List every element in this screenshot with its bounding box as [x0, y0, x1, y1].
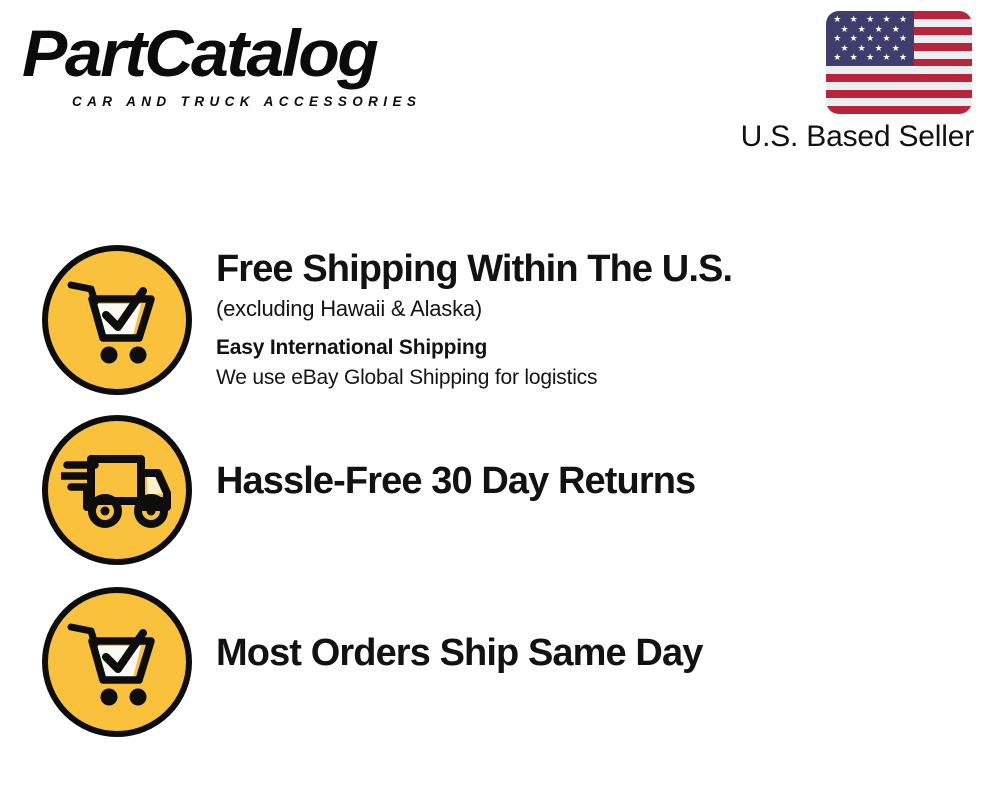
us-flag-icon: ★ ★ ★ ★ ★ ★ ★ ★ ★ ★ ★ ★: [826, 11, 972, 114]
flag-stripe: [826, 98, 972, 106]
flag-stripe: [826, 74, 972, 82]
brand-logo: PartCatalog CAR AND TRUCK ACCESSORIES: [22, 18, 492, 118]
star-icon: ★: [858, 44, 866, 53]
star-icon: ★: [858, 25, 866, 34]
star-icon: ★: [875, 25, 883, 34]
brand-wordmark: PartCatalog: [22, 18, 376, 88]
feature-text: Hassle-Free 30 Day Returns: [216, 415, 1000, 503]
flag-stripe: [826, 90, 972, 98]
feature-sub: (excluding Hawaii & Alaska): [216, 294, 1000, 324]
us-based-seller-badge: ★ ★ ★ ★ ★ ★ ★ ★ ★ ★ ★ ★: [714, 8, 986, 158]
star-icon: ★: [866, 53, 874, 62]
feature-text: Free Shipping Within The U.S. (excluding…: [216, 245, 1000, 392]
flag-star-row: ★ ★ ★ ★ ★: [829, 53, 911, 62]
star-icon: ★: [850, 53, 858, 62]
banner-header: PartCatalog CAR AND TRUCK ACCESSORIES: [0, 0, 1000, 175]
feature-subheading: Easy International Shipping: [216, 334, 1000, 362]
star-icon: ★: [883, 15, 891, 24]
star-icon: ★: [866, 34, 874, 43]
star-icon: ★: [883, 53, 891, 62]
star-icon: ★: [833, 15, 841, 24]
star-icon: ★: [899, 15, 907, 24]
flag-stripe: [826, 82, 972, 90]
feature-text: Most Orders Ship Same Day: [216, 587, 1000, 675]
feature-row: Most Orders Ship Same Day: [0, 587, 1000, 737]
feature-heading: Hassle-Free 30 Day Returns: [216, 459, 1000, 503]
star-icon: ★: [899, 53, 907, 62]
star-icon: ★: [875, 44, 883, 53]
us-based-seller-label: U.S. Based Seller: [741, 118, 974, 156]
flag-stripe: [826, 106, 972, 114]
brand-tagline: CAR AND TRUCK ACCESSORIES: [72, 94, 421, 109]
feature-subtext: We use eBay Global Shipping for logistic…: [216, 363, 1000, 392]
star-icon: ★: [883, 34, 891, 43]
feature-heading: Free Shipping Within The U.S.: [216, 247, 1000, 291]
star-icon: ★: [899, 34, 907, 43]
shopping-cart-check-icon: [42, 245, 192, 395]
delivery-truck-icon: [42, 415, 192, 565]
flag-stripe: [826, 66, 972, 74]
feature-row: Free Shipping Within The U.S. (excluding…: [0, 245, 1000, 395]
star-icon: ★: [866, 15, 874, 24]
star-icon: ★: [841, 44, 849, 53]
star-icon: ★: [833, 53, 841, 62]
star-icon: ★: [850, 34, 858, 43]
star-icon: ★: [833, 34, 841, 43]
shopping-cart-check-icon: [42, 587, 192, 737]
flag-canton: ★ ★ ★ ★ ★ ★ ★ ★ ★ ★ ★ ★: [826, 11, 914, 66]
feature-heading: Most Orders Ship Same Day: [216, 631, 1000, 675]
shipping-info-banner: PartCatalog CAR AND TRUCK ACCESSORIES: [0, 0, 1000, 800]
star-icon: ★: [850, 15, 858, 24]
star-icon: ★: [841, 25, 849, 34]
feature-row: Hassle-Free 30 Day Returns: [0, 415, 1000, 565]
